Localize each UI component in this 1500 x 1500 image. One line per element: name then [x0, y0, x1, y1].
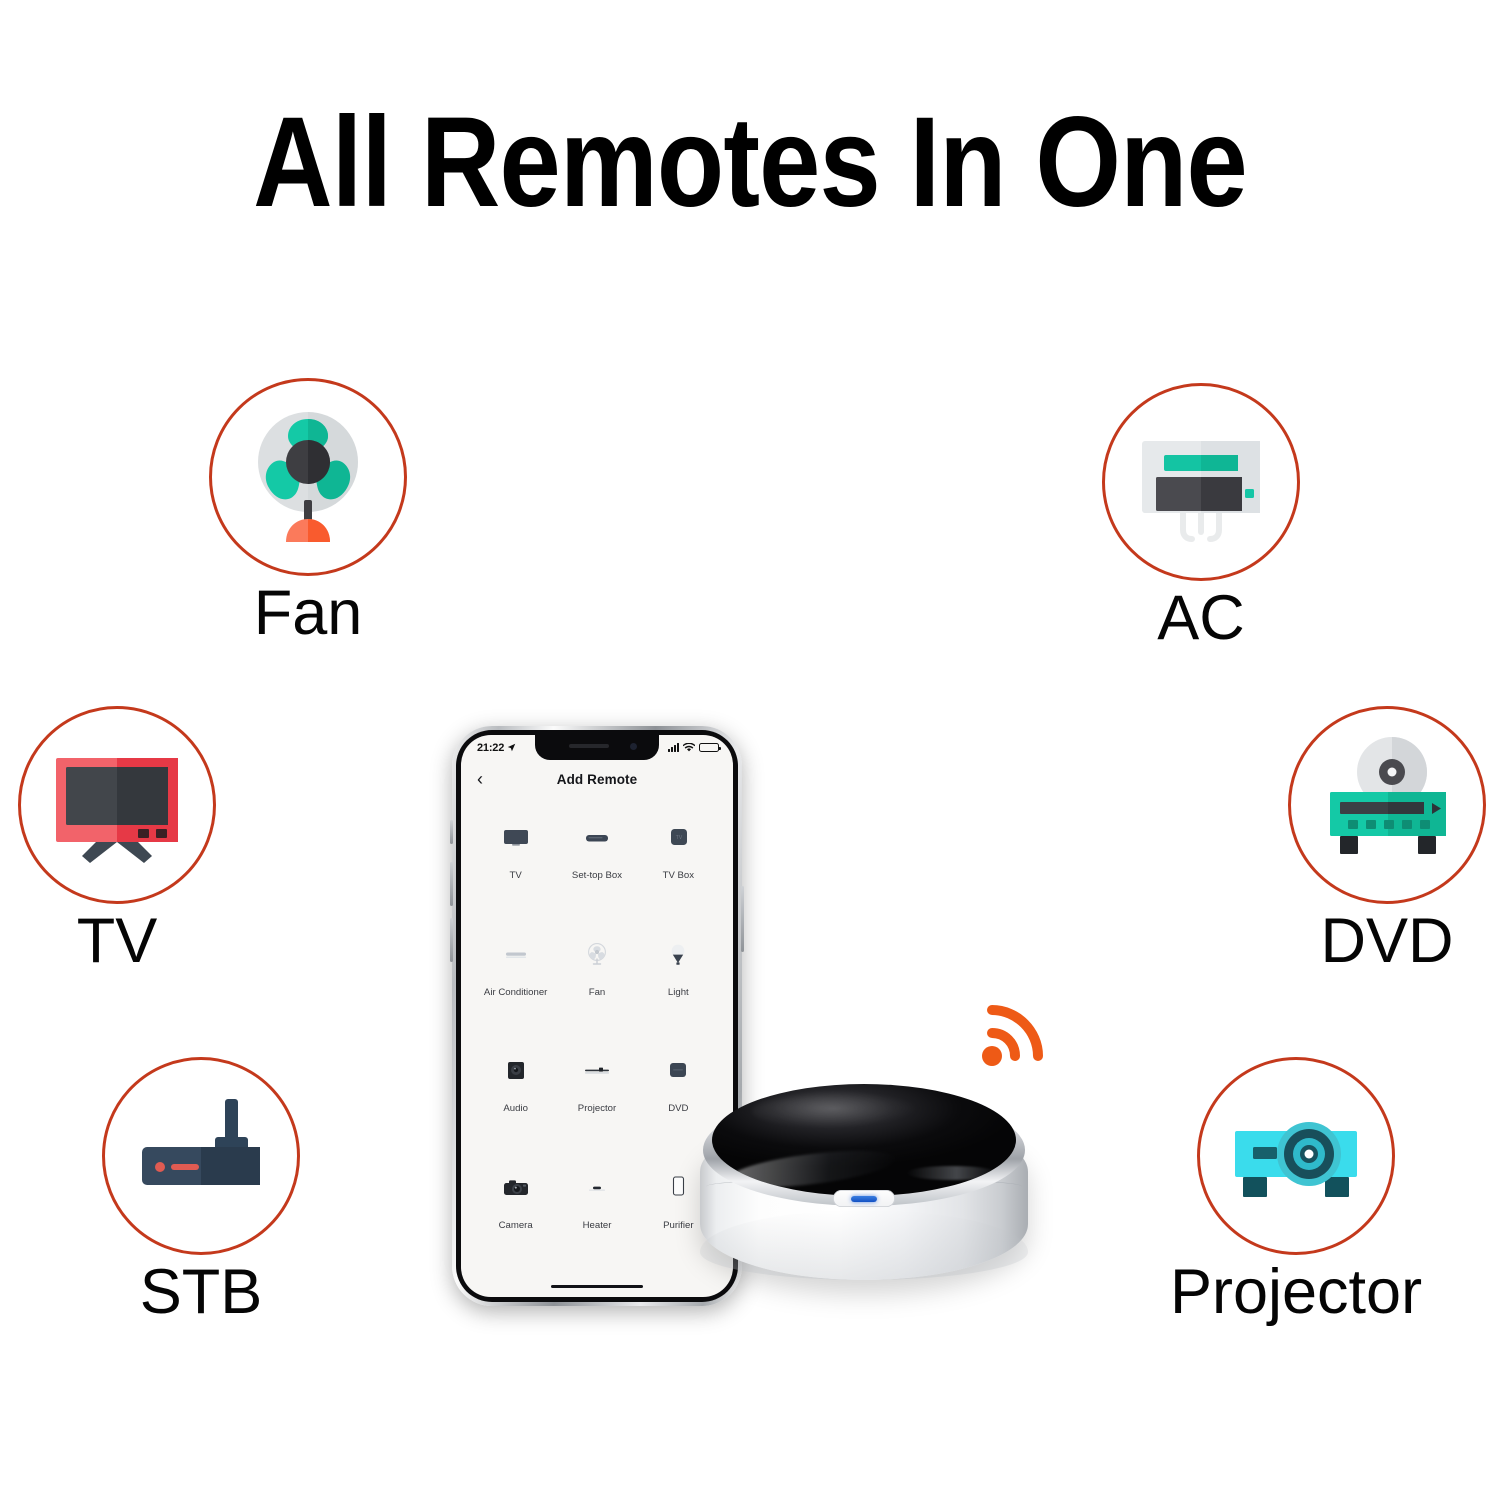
purifier-device-icon — [655, 1171, 701, 1205]
battery-icon — [699, 743, 719, 752]
svg-text:TV: TV — [676, 835, 683, 841]
grid-label: Set-top Box — [572, 870, 622, 882]
feature-stb: STB — [96, 1057, 306, 1325]
phone-mute-switch[interactable] — [450, 820, 453, 844]
feature-label-dvd: DVD — [1282, 908, 1492, 974]
light-device-icon — [655, 938, 701, 972]
status-bar-right — [668, 739, 719, 757]
location-arrow-icon — [507, 739, 516, 757]
grid-label: TV Box — [663, 870, 694, 882]
heater-device-icon — [574, 1171, 620, 1205]
grid-item-fan[interactable]: Fan — [556, 922, 637, 1039]
feature-label-ac: AC — [1096, 585, 1306, 651]
grid-item-projector[interactable]: Projector — [556, 1038, 637, 1155]
feature-label-projector: Projector — [1126, 1259, 1466, 1325]
hub-base-shading — [700, 1210, 1028, 1280]
ir-signal-waves-icon — [972, 1000, 1058, 1086]
wifi-icon — [683, 739, 695, 757]
grid-item-camera[interactable]: Camera — [475, 1155, 556, 1272]
feature-ring-dvd — [1288, 706, 1486, 904]
projector-icon — [1221, 1081, 1371, 1231]
status-time: 21:22 — [477, 742, 504, 754]
grid-item-set-top-box[interactable]: Set-top Box — [556, 805, 637, 922]
fan-icon — [233, 402, 383, 552]
front-camera-icon — [630, 743, 637, 750]
home-indicator[interactable] — [551, 1285, 643, 1288]
phone-power-button[interactable] — [741, 886, 744, 952]
feature-dvd: DVD — [1282, 706, 1492, 974]
feature-ring-fan — [209, 378, 407, 576]
feature-label-tv: TV — [12, 908, 222, 974]
grid-label: Camera — [499, 1220, 533, 1232]
feature-fan: Fan — [203, 378, 413, 646]
add-remote-grid: TV Set-top Box TV TV Box Air Conditioner — [461, 803, 733, 1271]
grid-label: DVD — [668, 1103, 688, 1115]
feature-ring-stb — [102, 1057, 300, 1255]
audio-device-icon — [493, 1054, 539, 1088]
grid-item-heater[interactable]: Heater — [556, 1155, 637, 1272]
television-icon — [42, 730, 192, 880]
feature-label-fan: Fan — [203, 580, 413, 646]
phone-volume-down-button[interactable] — [450, 918, 453, 962]
dvd-player-icon — [1312, 730, 1462, 880]
hub-indicator-button[interactable] — [833, 1190, 895, 1207]
app-screen-title: Add Remote — [557, 772, 638, 787]
dvd-device-icon — [655, 1054, 701, 1088]
grid-label: Heater — [583, 1220, 612, 1232]
grid-item-tv[interactable]: TV — [475, 805, 556, 922]
grid-item-light[interactable]: Light — [638, 922, 719, 1039]
feature-ac: AC — [1096, 383, 1306, 651]
blue-led-indicator — [851, 1196, 877, 1202]
phone-screen[interactable]: 21:22 ‹ Add Remote — [461, 735, 733, 1297]
smart-ir-hub — [700, 1068, 1028, 1300]
grid-item-air-conditioner[interactable]: Air Conditioner — [475, 922, 556, 1039]
feature-ring-tv — [18, 706, 216, 904]
air-conditioner-icon — [1126, 407, 1276, 557]
tvbox-device-icon: TV — [655, 821, 701, 855]
cellular-signal-icon — [668, 743, 679, 752]
phone-mockup: 21:22 ‹ Add Remote — [452, 726, 742, 1306]
status-bar-left: 21:22 — [477, 739, 516, 757]
earpiece-speaker — [569, 744, 609, 748]
grid-label: Light — [668, 987, 689, 999]
feature-projector: Projector — [1126, 1057, 1466, 1325]
phone-volume-up-button[interactable] — [450, 862, 453, 906]
grid-label: Air Conditioner — [484, 987, 547, 999]
fan-device-icon — [574, 938, 620, 972]
phone-notch — [535, 735, 659, 760]
tv-device-icon — [493, 821, 539, 855]
projector-device-icon — [574, 1054, 620, 1088]
set-top-box-icon — [126, 1081, 276, 1231]
grid-item-tv-box[interactable]: TV TV Box — [638, 805, 719, 922]
feature-tv: TV — [12, 706, 222, 974]
settop-device-icon — [574, 821, 620, 855]
grid-label: Projector — [578, 1103, 616, 1115]
ac-device-icon — [493, 938, 539, 972]
feature-label-stb: STB — [96, 1259, 306, 1325]
camera-device-icon — [493, 1171, 539, 1205]
grid-label: TV — [510, 870, 522, 882]
grid-item-audio[interactable]: Audio — [475, 1038, 556, 1155]
grid-label: Purifier — [663, 1220, 693, 1232]
grid-label: Audio — [503, 1103, 528, 1115]
chevron-left-icon[interactable]: ‹ — [477, 770, 483, 788]
grid-label: Fan — [589, 987, 606, 999]
hub-glossy-dome — [712, 1084, 1016, 1196]
feature-ring-projector — [1197, 1057, 1395, 1255]
page-title: All Remotes In One — [105, 96, 1395, 230]
feature-ring-ac — [1102, 383, 1300, 581]
app-nav-bar: ‹ Add Remote — [461, 760, 733, 798]
